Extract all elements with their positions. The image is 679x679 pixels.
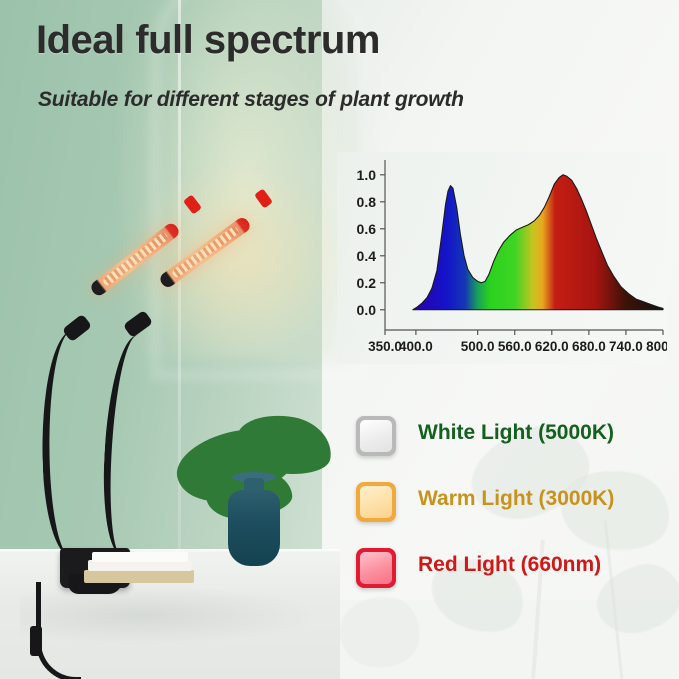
light-mode-legend: White Light (5000K) Warm Light (3000K) R…	[356, 412, 656, 610]
book	[92, 552, 188, 562]
svg-text:500.0: 500.0	[461, 339, 495, 354]
power-cord	[36, 582, 81, 679]
svg-text:620.0: 620.0	[535, 339, 569, 354]
svg-text:0.4: 0.4	[357, 248, 377, 264]
svg-text:0.2: 0.2	[357, 275, 377, 291]
book	[84, 570, 194, 583]
cord-inline-switch	[30, 626, 42, 656]
svg-text:400.0: 400.0	[399, 339, 433, 354]
legend-label-red-light: Red Light (660nm)	[418, 553, 601, 577]
white-light-swatch-fill	[360, 420, 392, 452]
page-subtitle: Suitable for different stages of plant g…	[38, 88, 464, 112]
svg-text:1.0: 1.0	[357, 167, 377, 183]
white-light-swatch	[356, 416, 396, 456]
legend-label-white-light: White Light (5000K)	[418, 421, 614, 445]
glass-vase	[228, 490, 280, 566]
svg-text:0.8: 0.8	[357, 194, 377, 210]
svg-text:0.0: 0.0	[357, 302, 377, 318]
legend-item-red-light: Red Light (660nm)	[356, 544, 656, 610]
svg-text:680.0: 680.0	[572, 339, 606, 354]
svg-text:800.0: 800.0	[646, 339, 667, 354]
red-light-swatch-fill	[360, 552, 392, 584]
page-title: Ideal full spectrum	[36, 18, 380, 63]
legend-label-warm-light: Warm Light (3000K)	[418, 487, 614, 511]
svg-text:740.0: 740.0	[609, 339, 643, 354]
legend-item-white-light: White Light (5000K)	[356, 412, 656, 478]
warm-light-swatch-fill	[360, 486, 392, 518]
legend-item-warm-light: Warm Light (3000K)	[356, 478, 656, 544]
svg-text:0.6: 0.6	[357, 221, 377, 237]
svg-text:350.0: 350.0	[368, 339, 402, 354]
red-light-swatch	[356, 548, 396, 588]
spectrum-chart-svg: 0.00.20.40.60.81.0350.0400.0500.0560.062…	[337, 152, 667, 364]
book-stack	[84, 552, 194, 584]
lamp-glow	[120, 160, 350, 360]
svg-text:560.0: 560.0	[498, 339, 532, 354]
spectrum-chart: 0.00.20.40.60.81.0350.0400.0500.0560.062…	[337, 152, 667, 364]
product-spectrum-infographic: Ideal full spectrum Suitable for differe…	[0, 0, 679, 679]
warm-light-swatch	[356, 482, 396, 522]
